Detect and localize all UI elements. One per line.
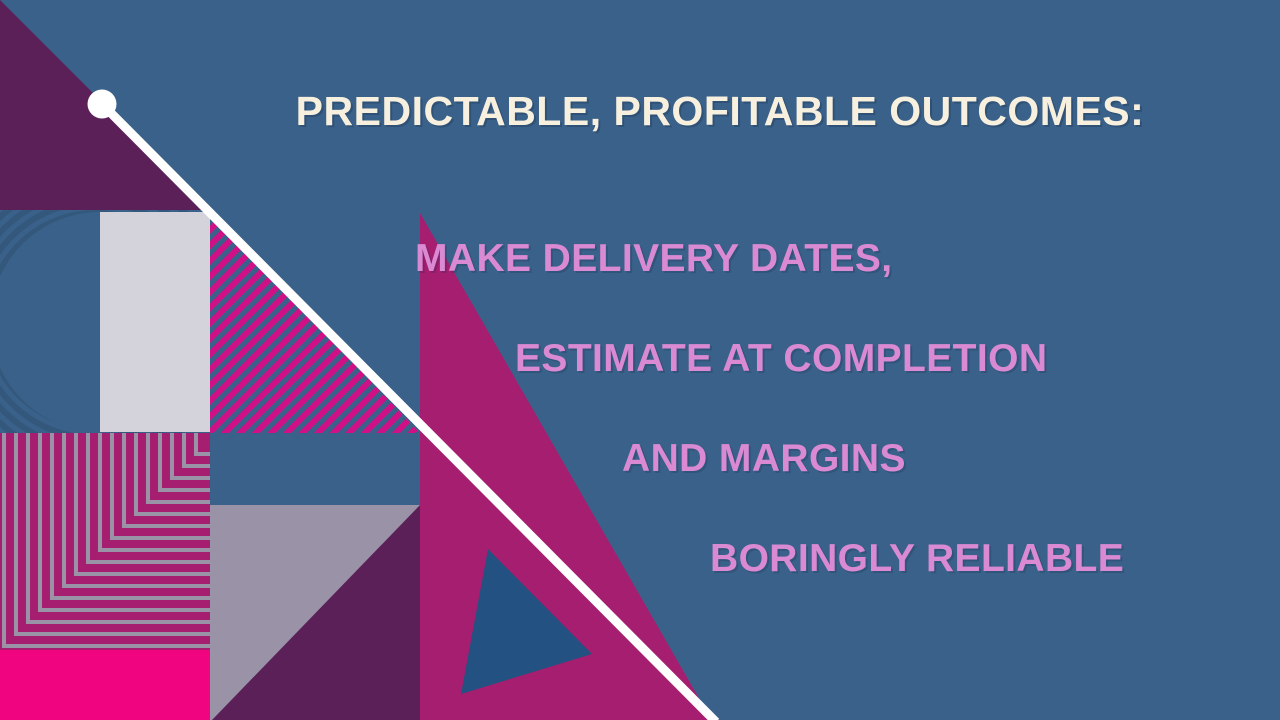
- nested-l-lines-corner: [0, 433, 212, 650]
- decorative-artwork: [0, 0, 1280, 720]
- light-grey-half-circle-fill: [100, 212, 210, 432]
- presentation-slide: PREDICTABLE, PROFITABLE OUTCOMES: MAKE D…: [0, 0, 1280, 720]
- white-circle-pin: [88, 90, 117, 119]
- concentric-circles-motif: [0, 180, 235, 460]
- bright-pink-band: [0, 650, 210, 720]
- grey-purple-diagonal-square: [210, 505, 420, 720]
- middle-blue-band: [210, 433, 420, 505]
